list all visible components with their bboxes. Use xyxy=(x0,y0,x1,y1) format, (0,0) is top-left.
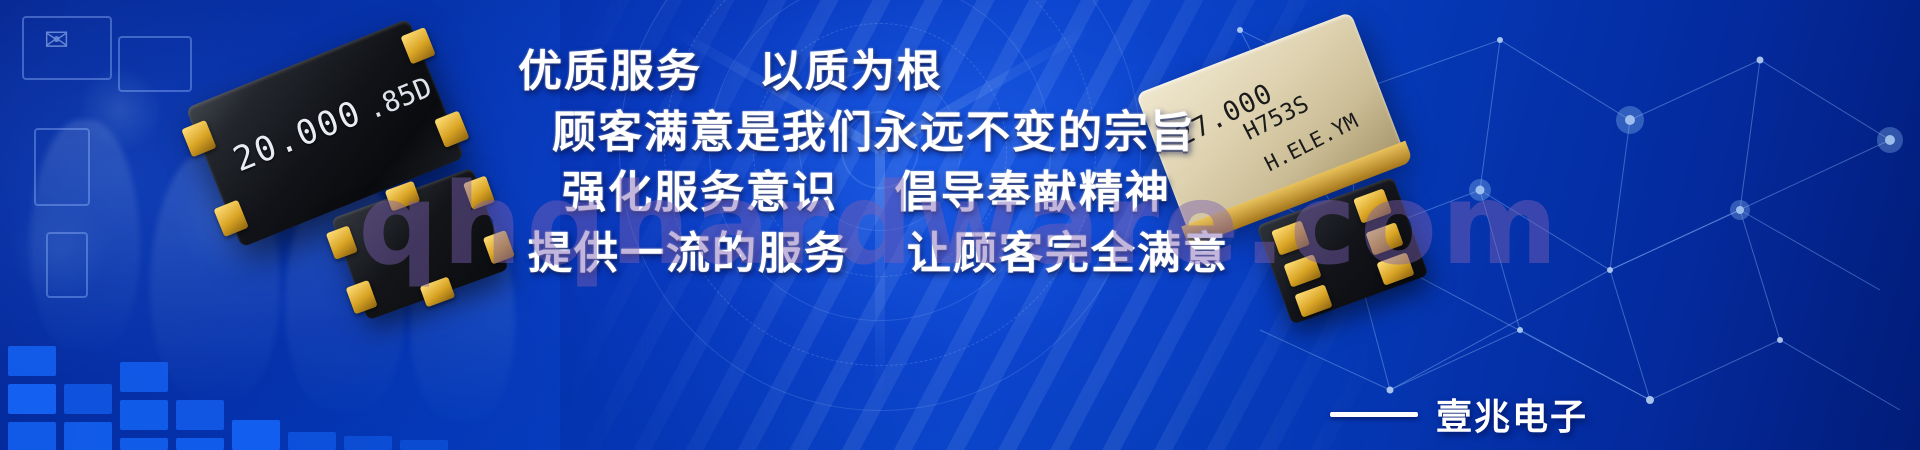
slogan-block: 优质服务 以质为根 顾客满意是我们永远不变的宗旨 强化服务意识 倡导奉献精神 提… xyxy=(500,42,1220,285)
slogan-line-2: 顾客满意是我们永远不变的宗旨 xyxy=(552,103,1220,164)
promo-banner: ✉ xyxy=(0,0,1920,450)
signature: 壹兆电子 xyxy=(1330,388,1588,440)
slogan-line-1: 优质服务 以质为根 xyxy=(518,42,1220,103)
slogan-line-3: 强化服务意识 倡导奉献精神 xyxy=(562,163,1220,224)
mail-icon: ✉ xyxy=(44,26,69,56)
signature-company-name: 壹兆电子 xyxy=(1436,388,1588,440)
signature-dash-icon xyxy=(1330,412,1418,417)
window-outline-icon xyxy=(118,36,192,92)
tablet-outline-icon xyxy=(34,128,90,206)
slogan-line-4: 提供一流的服务 让顾客完全满意 xyxy=(528,224,1220,285)
